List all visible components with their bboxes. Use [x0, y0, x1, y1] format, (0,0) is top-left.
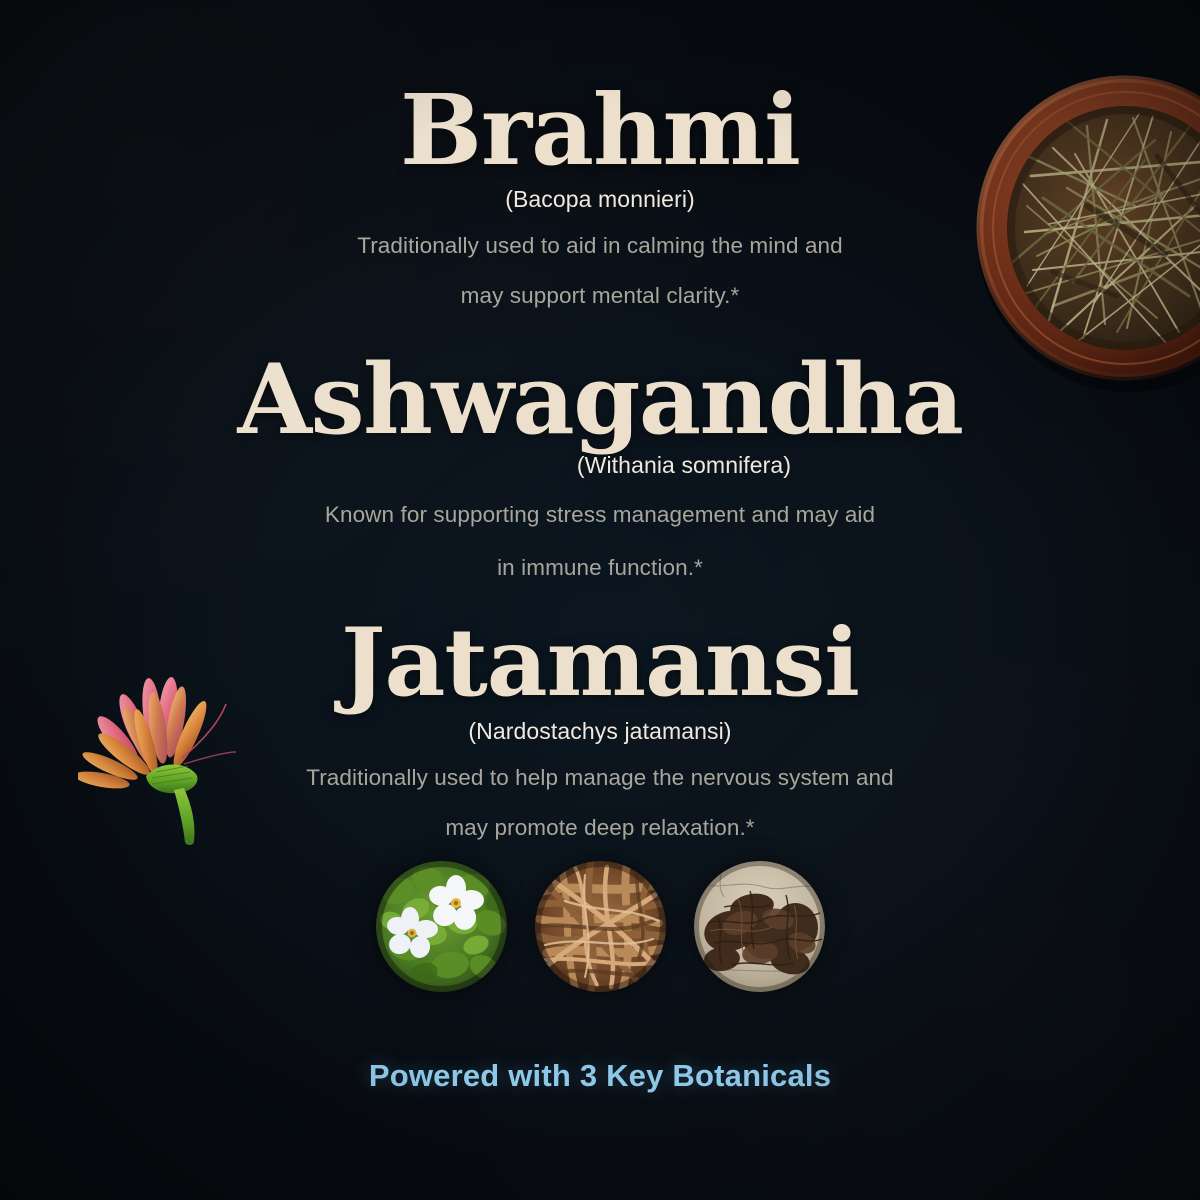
herb-description-jatamansi-line2: may promote deep relaxation.* — [0, 812, 1200, 843]
herb-name-ashwagandha: Ashwagandha — [0, 352, 1200, 448]
footer-tagline: Powered with 3 Key Botanicals — [0, 1058, 1200, 1094]
botanical-name-ashwagandha: (Withania somnifera) — [0, 454, 1200, 477]
jatamansi-rhizomes-photo — [694, 861, 825, 992]
herb-description-ashwagandha-line1: Known for supporting stress management a… — [0, 499, 1200, 530]
herb-name-jatamansi: Jatamansi — [0, 616, 1200, 710]
botanical-ingredients-poster: Brahmi (Bacopa monnieri) Traditionally u… — [0, 0, 1200, 1200]
herb-section-jatamansi: Jatamansi (Nardostachys jatamansi) Tradi… — [0, 616, 1200, 843]
herb-description-ashwagandha-line2: in immune function.* — [0, 552, 1200, 583]
botanical-name-brahmi: (Bacopa monnieri) — [0, 188, 1200, 211]
herb-section-ashwagandha: Ashwagandha (Withania somnifera) Known f… — [0, 352, 1200, 583]
ashwagandha-roots-photo — [535, 861, 666, 992]
botanical-name-jatamansi: (Nardostachys jatamansi) — [0, 720, 1200, 743]
herb-name-brahmi: Brahmi — [0, 82, 1200, 179]
herb-section-brahmi: Brahmi (Bacopa monnieri) Traditionally u… — [0, 82, 1200, 311]
bacopa-flowers-photo — [376, 861, 507, 992]
ingredient-thumbnail-row — [0, 861, 1200, 992]
herb-description-jatamansi-line1: Traditionally used to help manage the ne… — [0, 762, 1200, 793]
herb-description-brahmi-line1: Traditionally used to aid in calming the… — [0, 230, 1200, 261]
herb-description-brahmi-line2: may support mental clarity.* — [0, 280, 1200, 311]
